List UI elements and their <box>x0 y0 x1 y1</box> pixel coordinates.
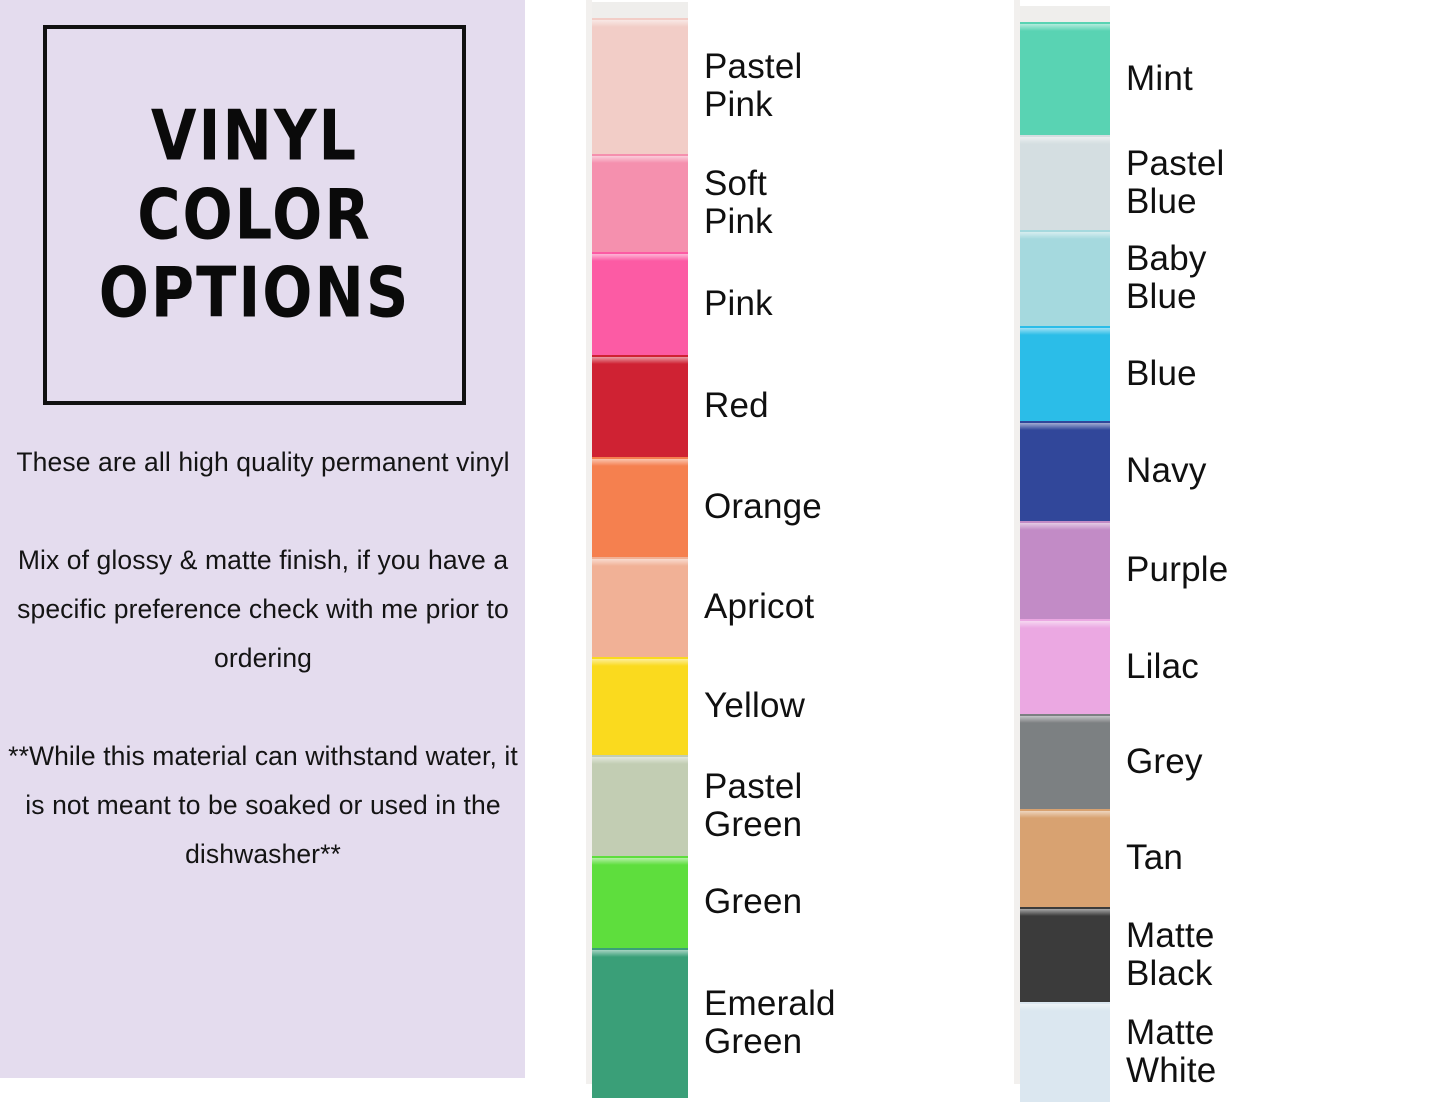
swatch-row[interactable]: Emerald Green <box>592 948 836 1098</box>
swatch-chip[interactable] <box>1020 619 1110 714</box>
swatch-row[interactable]: Red <box>592 355 769 457</box>
info-paragraph-quality: These are all high quality permanent vin… <box>8 438 518 487</box>
swatch-row[interactable]: Navy <box>1020 421 1207 521</box>
swatch-chip[interactable] <box>1020 521 1110 619</box>
swatch-row[interactable]: Mint <box>1020 22 1193 135</box>
swatch-chip[interactable] <box>592 755 688 856</box>
paper-backing-top <box>592 2 688 18</box>
swatch-row[interactable]: Matte Black <box>1020 907 1215 1002</box>
swatch-chip[interactable] <box>592 948 688 1098</box>
swatch-row[interactable]: Blue <box>1020 326 1197 421</box>
swatch-row[interactable]: Matte White <box>1020 1002 1216 1102</box>
swatch-chip[interactable] <box>592 252 688 355</box>
swatch-row[interactable]: Green <box>592 856 802 948</box>
swatch-chip[interactable] <box>1020 809 1110 907</box>
title-frame: Vinyl Color Options <box>43 25 466 405</box>
swatch-label: Blue <box>1110 355 1197 393</box>
swatch-label: Tan <box>1110 839 1183 877</box>
swatch-row[interactable]: Tan <box>1020 809 1183 907</box>
swatch-label: Yellow <box>688 687 805 725</box>
swatch-row[interactable]: Pink <box>592 252 773 355</box>
swatch-chip[interactable] <box>1020 714 1110 809</box>
info-body-copy: These are all high quality permanent vin… <box>8 438 518 879</box>
swatch-label: Purple <box>1110 551 1228 589</box>
swatch-row[interactable]: Baby Blue <box>1020 230 1207 326</box>
swatch-label: Pastel Blue <box>1110 145 1224 221</box>
swatch-chip[interactable] <box>592 154 688 252</box>
swatch-row[interactable]: Purple <box>1020 521 1228 619</box>
swatch-chip[interactable] <box>592 856 688 948</box>
swatch-row[interactable]: Pastel Pink <box>592 18 802 154</box>
swatch-label: Emerald Green <box>688 985 836 1061</box>
swatch-row[interactable]: Pastel Green <box>592 755 802 856</box>
title-line-3: Options <box>99 247 411 340</box>
swatch-label: Matte Black <box>1110 917 1215 993</box>
info-paragraph-finish: Mix of glossy & matte finish, if you hav… <box>8 536 518 683</box>
swatch-label: Baby Blue <box>1110 240 1207 316</box>
swatch-chip[interactable] <box>592 457 688 557</box>
swatch-row[interactable]: Apricot <box>592 557 814 657</box>
swatch-chip[interactable] <box>1020 907 1110 1002</box>
swatch-row[interactable]: Lilac <box>1020 619 1199 714</box>
swatch-label: Pastel Green <box>688 768 802 844</box>
swatch-label: Mint <box>1110 60 1193 98</box>
swatch-label: Grey <box>1110 743 1203 781</box>
swatch-chip[interactable] <box>592 557 688 657</box>
paper-backing-top <box>1020 6 1110 22</box>
swatch-label: Soft Pink <box>688 165 773 241</box>
swatch-label: Navy <box>1110 452 1207 490</box>
swatch-column-2: MintPastel BlueBaby BlueBlueNavyPurpleLi… <box>1020 0 1445 1084</box>
swatch-chip[interactable] <box>1020 1002 1110 1102</box>
swatch-chip[interactable] <box>1020 135 1110 230</box>
swatch-label: Pastel Pink <box>688 48 802 124</box>
swatch-chip[interactable] <box>592 18 688 154</box>
swatch-label: Matte White <box>1110 1014 1216 1090</box>
info-paragraph-care: **While this material can withstand wate… <box>8 732 518 879</box>
swatch-row[interactable]: Yellow <box>592 657 805 755</box>
swatch-chip[interactable] <box>1020 230 1110 326</box>
info-panel: Vinyl Color Options These are all high q… <box>0 0 525 1078</box>
swatch-label: Orange <box>688 488 822 526</box>
swatch-label: Lilac <box>1110 648 1199 686</box>
swatch-label: Red <box>688 387 769 425</box>
swatch-row[interactable]: Pastel Blue <box>1020 135 1224 230</box>
swatch-chip[interactable] <box>1020 22 1110 135</box>
swatch-chip[interactable] <box>592 657 688 755</box>
swatch-label: Apricot <box>688 588 814 626</box>
swatch-row[interactable]: Grey <box>1020 714 1203 809</box>
swatch-chip[interactable] <box>1020 421 1110 521</box>
swatch-label: Pink <box>688 285 773 323</box>
swatch-chip[interactable] <box>1020 326 1110 421</box>
swatch-label: Green <box>688 883 802 921</box>
swatch-row[interactable]: Orange <box>592 457 822 557</box>
swatch-row[interactable]: Soft Pink <box>592 154 773 252</box>
swatch-chip[interactable] <box>592 355 688 457</box>
